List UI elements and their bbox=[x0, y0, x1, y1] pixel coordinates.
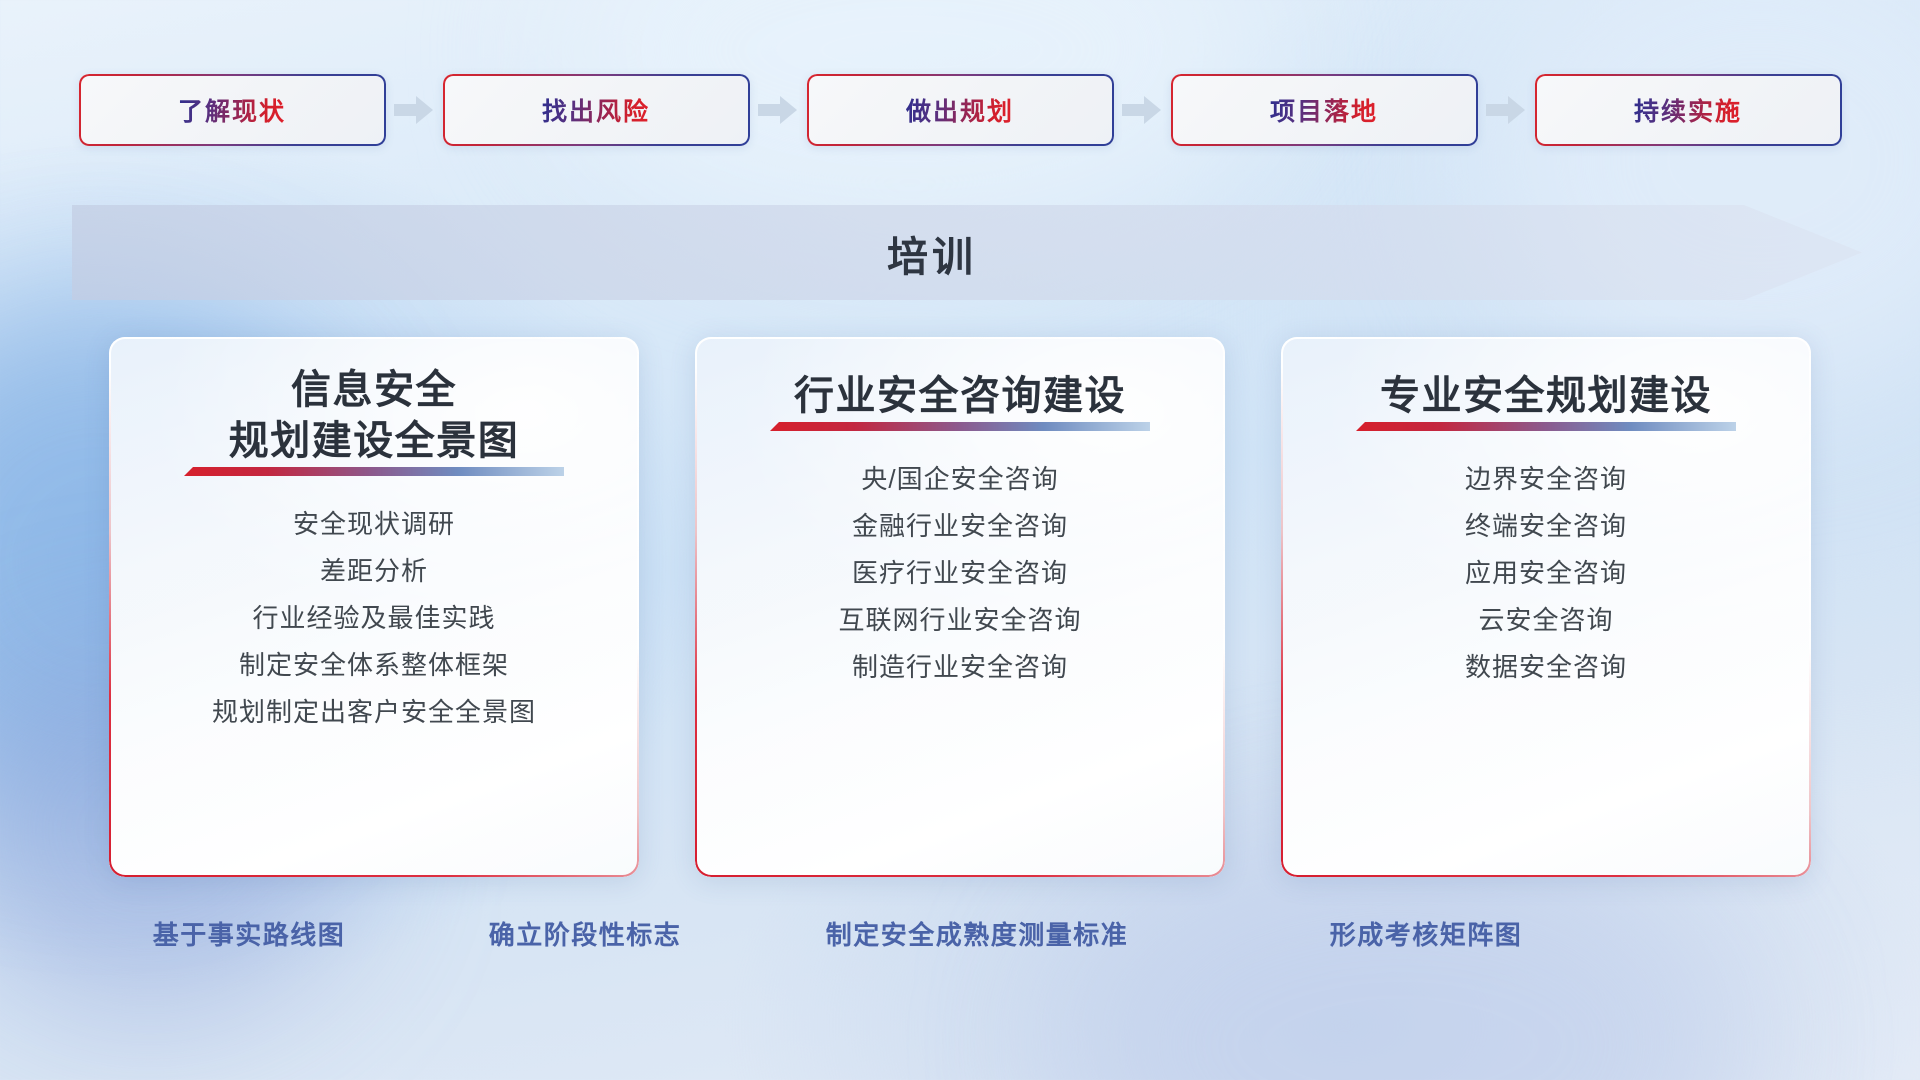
caption-milestone: 确立阶段性标志 bbox=[489, 915, 682, 952]
step-chip-label: 了解现状 bbox=[178, 92, 286, 128]
card-divider-wrap bbox=[695, 422, 1225, 433]
list-item: 数据安全咨询 bbox=[1281, 643, 1811, 690]
list-item: 云安全咨询 bbox=[1281, 596, 1811, 643]
card-industry-security-consulting[interactable]: 行业安全咨询建设 bbox=[695, 337, 1225, 877]
card-title-line: 信息安全 bbox=[229, 365, 520, 416]
card-title: 行业安全咨询建设 bbox=[770, 371, 1150, 422]
step-chip-label: 项目落地 bbox=[1270, 92, 1378, 128]
card-title: 信息安全 规划建设全景图 bbox=[205, 365, 544, 467]
caption-roadmap: 基于事实路线图 bbox=[153, 915, 346, 952]
step-chip-4[interactable]: 项目落地 bbox=[1171, 74, 1478, 146]
list-item: 应用安全咨询 bbox=[1281, 549, 1811, 596]
list-item: 边界安全咨询 bbox=[1281, 455, 1811, 502]
gradient-divider-icon bbox=[1356, 422, 1736, 433]
card-professional-security-planning[interactable]: 专业安全规划建设 bbox=[1281, 337, 1811, 877]
list-item: 差距分析 bbox=[109, 547, 639, 594]
list-item: 央/国企安全咨询 bbox=[695, 455, 1225, 502]
gradient-divider-icon bbox=[770, 422, 1150, 433]
step-chip-label: 找出风险 bbox=[542, 92, 650, 128]
arrow-right-icon bbox=[1478, 74, 1535, 146]
list-item: 终端安全咨询 bbox=[1281, 502, 1811, 549]
bottom-captions: 基于事实路线图 确立阶段性标志 制定安全成熟度测量标准 形成考核矩阵图 bbox=[0, 915, 1920, 955]
list-item: 互联网行业安全咨询 bbox=[695, 596, 1225, 643]
card-divider-wrap bbox=[109, 467, 639, 478]
list-item: 制造行业安全咨询 bbox=[695, 643, 1225, 690]
caption-maturity: 制定安全成熟度测量标准 bbox=[826, 915, 1129, 952]
card-title-line: 规划建设全景图 bbox=[229, 416, 520, 467]
list-item: 金融行业安全咨询 bbox=[695, 502, 1225, 549]
step-chip-label: 持续实施 bbox=[1634, 92, 1742, 128]
card-title: 专业安全规划建设 bbox=[1356, 371, 1736, 422]
step-chip-2[interactable]: 找出风险 bbox=[443, 74, 750, 146]
step-chip-1[interactable]: 了解现状 bbox=[79, 74, 386, 146]
step-chip-3[interactable]: 做出规划 bbox=[807, 74, 1114, 146]
list-item: 安全现状调研 bbox=[109, 500, 639, 547]
list-item: 规划制定出客户安全全景图 bbox=[109, 688, 639, 735]
list-item: 行业经验及最佳实践 bbox=[109, 594, 639, 641]
arrow-right-icon bbox=[750, 74, 807, 146]
step-chip-label: 做出规划 bbox=[906, 92, 1014, 128]
step-chip-5[interactable]: 持续实施 bbox=[1535, 74, 1842, 146]
caption-matrix: 形成考核矩阵图 bbox=[1330, 915, 1523, 952]
gradient-divider-icon bbox=[184, 467, 564, 478]
list-item: 制定安全体系整体框架 bbox=[109, 641, 639, 688]
card-divider-wrap bbox=[1281, 422, 1811, 433]
card-title-line: 专业安全规划建设 bbox=[1380, 371, 1712, 422]
card-item-list: 安全现状调研 差距分析 行业经验及最佳实践 制定安全体系整体框架 规划制定出客户… bbox=[109, 500, 639, 735]
card-item-list: 边界安全咨询 终端安全咨询 应用安全咨询 云安全咨询 数据安全咨询 bbox=[1281, 455, 1811, 690]
process-steps-row: 了解现状 找出风险 做出规划 项目落地 持续实施 bbox=[0, 74, 1920, 146]
arrow-right-icon bbox=[386, 74, 443, 146]
arrow-right-icon bbox=[1114, 74, 1171, 146]
list-item: 医疗行业安全咨询 bbox=[695, 549, 1225, 596]
card-information-security-blueprint[interactable]: 信息安全 规划建设全景图 bbox=[109, 337, 639, 877]
card-item-list: 央/国企安全咨询 金融行业安全咨询 医疗行业安全咨询 互联网行业安全咨询 制造行… bbox=[695, 455, 1225, 690]
cards-row: 信息安全 规划建设全景图 bbox=[0, 337, 1920, 877]
training-label: 培训 bbox=[72, 205, 1792, 300]
training-band: 培训 bbox=[72, 205, 1862, 300]
card-title-line: 行业安全咨询建设 bbox=[794, 371, 1126, 422]
